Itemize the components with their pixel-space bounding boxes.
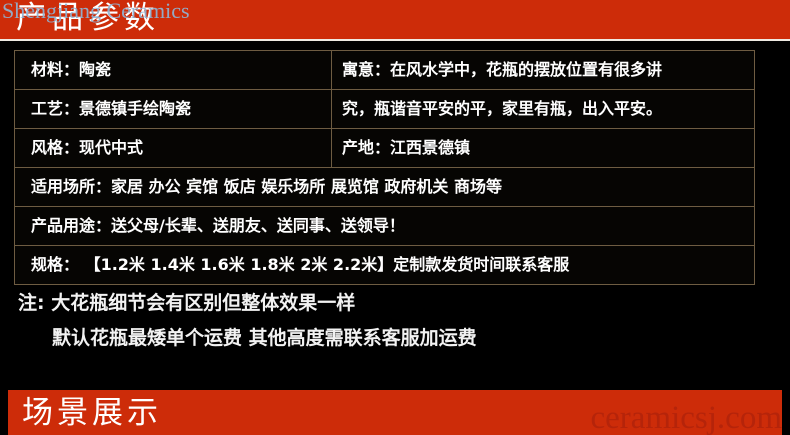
product-spec-table: 材料：陶瓷 寓意：在风水学中，花瓶的摆放位置有很多讲 工艺：景德镇手绘陶瓷 究，… (14, 50, 755, 285)
table-row: 适用场所：家居 办公 宾馆 饭店 娱乐场所 展览馆 政府机关 商场等 (15, 168, 755, 207)
spec-text: 材料：陶瓷 (31, 60, 331, 80)
spec-cell-material: 材料：陶瓷 (15, 51, 332, 90)
brand-watermark: Shengjiang Ceramics (2, 0, 190, 23)
spec-cell-style: 风格：现代中式 (15, 129, 332, 168)
spec-text: 工艺：景德镇手绘陶瓷 (31, 99, 331, 119)
table-row: 风格：现代中式 产地：江西景德镇 (15, 129, 755, 168)
scene-display-banner: 场景展示 ceramicsj.com (8, 390, 782, 435)
site-watermark: ceramicsj.com (591, 398, 783, 435)
spec-cell-usage-places: 适用场所：家居 办公 宾馆 饭店 娱乐场所 展览馆 政府机关 商场等 (15, 168, 755, 207)
spec-text: 究，瓶谐音平安的平，家里有瓶，出入平安。 (342, 99, 754, 119)
spec-text: 产地：江西景德镇 (342, 138, 754, 158)
spec-table-body: 材料：陶瓷 寓意：在风水学中，花瓶的摆放位置有很多讲 工艺：景德镇手绘陶瓷 究，… (15, 51, 755, 285)
spec-text: 风格：现代中式 (31, 138, 331, 158)
table-row: 工艺：景德镇手绘陶瓷 究，瓶谐音平安的平，家里有瓶，出入平安。 (15, 90, 755, 129)
page-header-banner: 产品参数 Shengjiang Ceramics (0, 0, 790, 39)
spec-cell-meaning-line2: 究，瓶谐音平安的平，家里有瓶，出入平安。 (332, 90, 755, 129)
spec-cell-craft: 工艺：景德镇手绘陶瓷 (15, 90, 332, 129)
spec-text: 适用场所：家居 办公 宾馆 饭店 娱乐场所 展览馆 政府机关 商场等 (31, 177, 754, 197)
spec-text: 产品用途：送父母/长辈、送朋友、送同事、送领导！ (31, 216, 754, 236)
header-underline (0, 39, 790, 41)
spec-text: 规格： 【1.2米 1.4米 1.6米 1.8米 2米 2.2米】定制款发货时间… (31, 255, 754, 275)
table-row: 产品用途：送父母/长辈、送朋友、送同事、送领导！ (15, 207, 755, 246)
spec-cell-product-purpose: 产品用途：送父母/长辈、送朋友、送同事、送领导！ (15, 207, 755, 246)
spec-cell-meaning-line1: 寓意：在风水学中，花瓶的摆放位置有很多讲 (332, 51, 755, 90)
note-line-primary: 注: 大花瓶细节会有区别但整体效果一样 (0, 286, 790, 321)
spec-cell-specifications: 规格： 【1.2米 1.4米 1.6米 1.8米 2米 2.2米】定制款发货时间… (15, 246, 755, 285)
table-row: 材料：陶瓷 寓意：在风水学中，花瓶的摆放位置有很多讲 (15, 51, 755, 90)
scene-display-title: 场景展示 (22, 392, 162, 434)
note-section: 注: 大花瓶细节会有区别但整体效果一样 默认花瓶最矮单个运费 其他高度需联系客服… (0, 286, 790, 356)
spec-text: 寓意：在风水学中，花瓶的摆放位置有很多讲 (342, 60, 754, 80)
spec-cell-origin: 产地：江西景德镇 (332, 129, 755, 168)
note-line-secondary: 默认花瓶最矮单个运费 其他高度需联系客服加运费 (0, 321, 790, 356)
table-row: 规格： 【1.2米 1.4米 1.6米 1.8米 2米 2.2米】定制款发货时间… (15, 246, 755, 285)
